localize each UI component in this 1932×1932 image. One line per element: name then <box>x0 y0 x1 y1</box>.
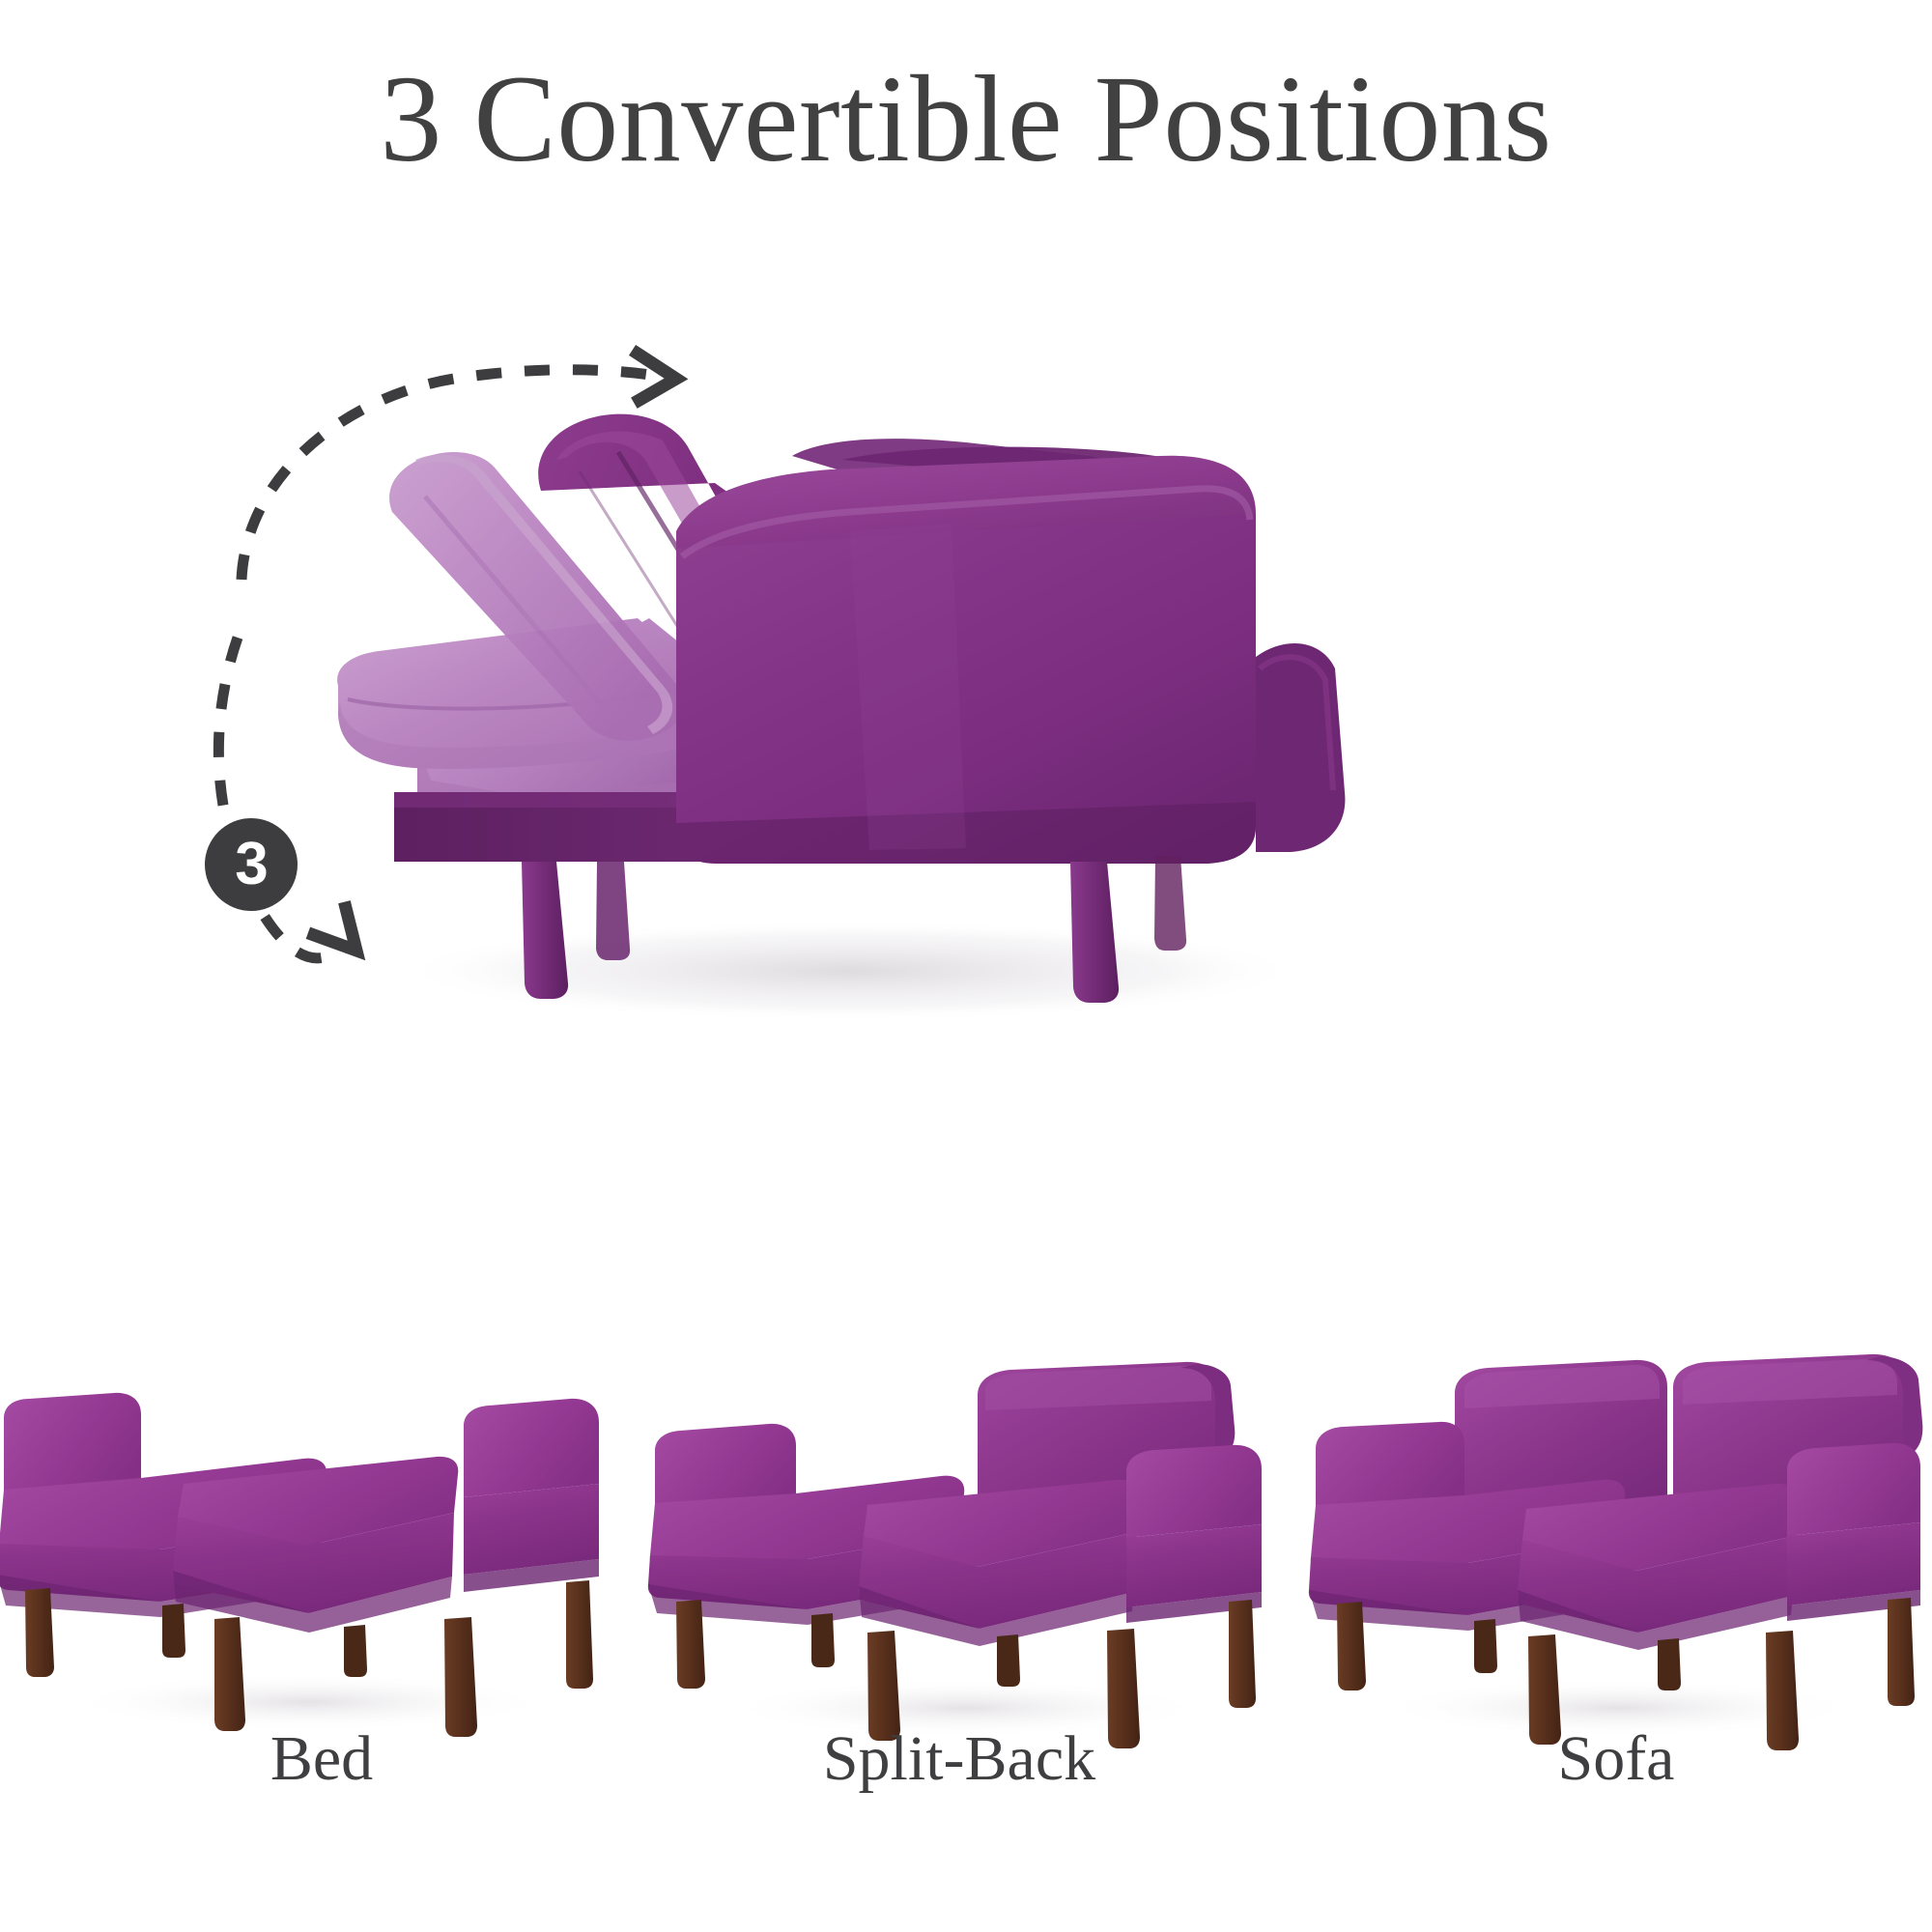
arrow-head-bottom <box>314 908 356 951</box>
thumbnail-bed[interactable] <box>0 1343 634 1768</box>
caption-sofa: Sofa <box>1294 1719 1932 1800</box>
caption-split-back: Split-Back <box>638 1719 1281 1800</box>
position-count-badge: 3 <box>205 818 298 911</box>
armrest-right-roll <box>1256 643 1345 852</box>
thumbnail-captions: Bed Split-Back Sofa <box>0 1719 1932 1835</box>
caption-bed: Bed <box>0 1719 643 1800</box>
badge-number: 3 <box>235 835 267 895</box>
infographic-canvas: 3 Convertible Positions <box>0 0 1932 1932</box>
thumbnail-sofa[interactable] <box>1294 1343 1932 1768</box>
page-title: 3 Convertible Positions <box>0 50 1932 188</box>
hero-illustration: 3 <box>0 290 1932 1333</box>
armrest-front-panel <box>676 456 1256 864</box>
thumbnail-split-back[interactable] <box>638 1343 1281 1768</box>
position-thumbnails <box>0 1343 1932 1768</box>
